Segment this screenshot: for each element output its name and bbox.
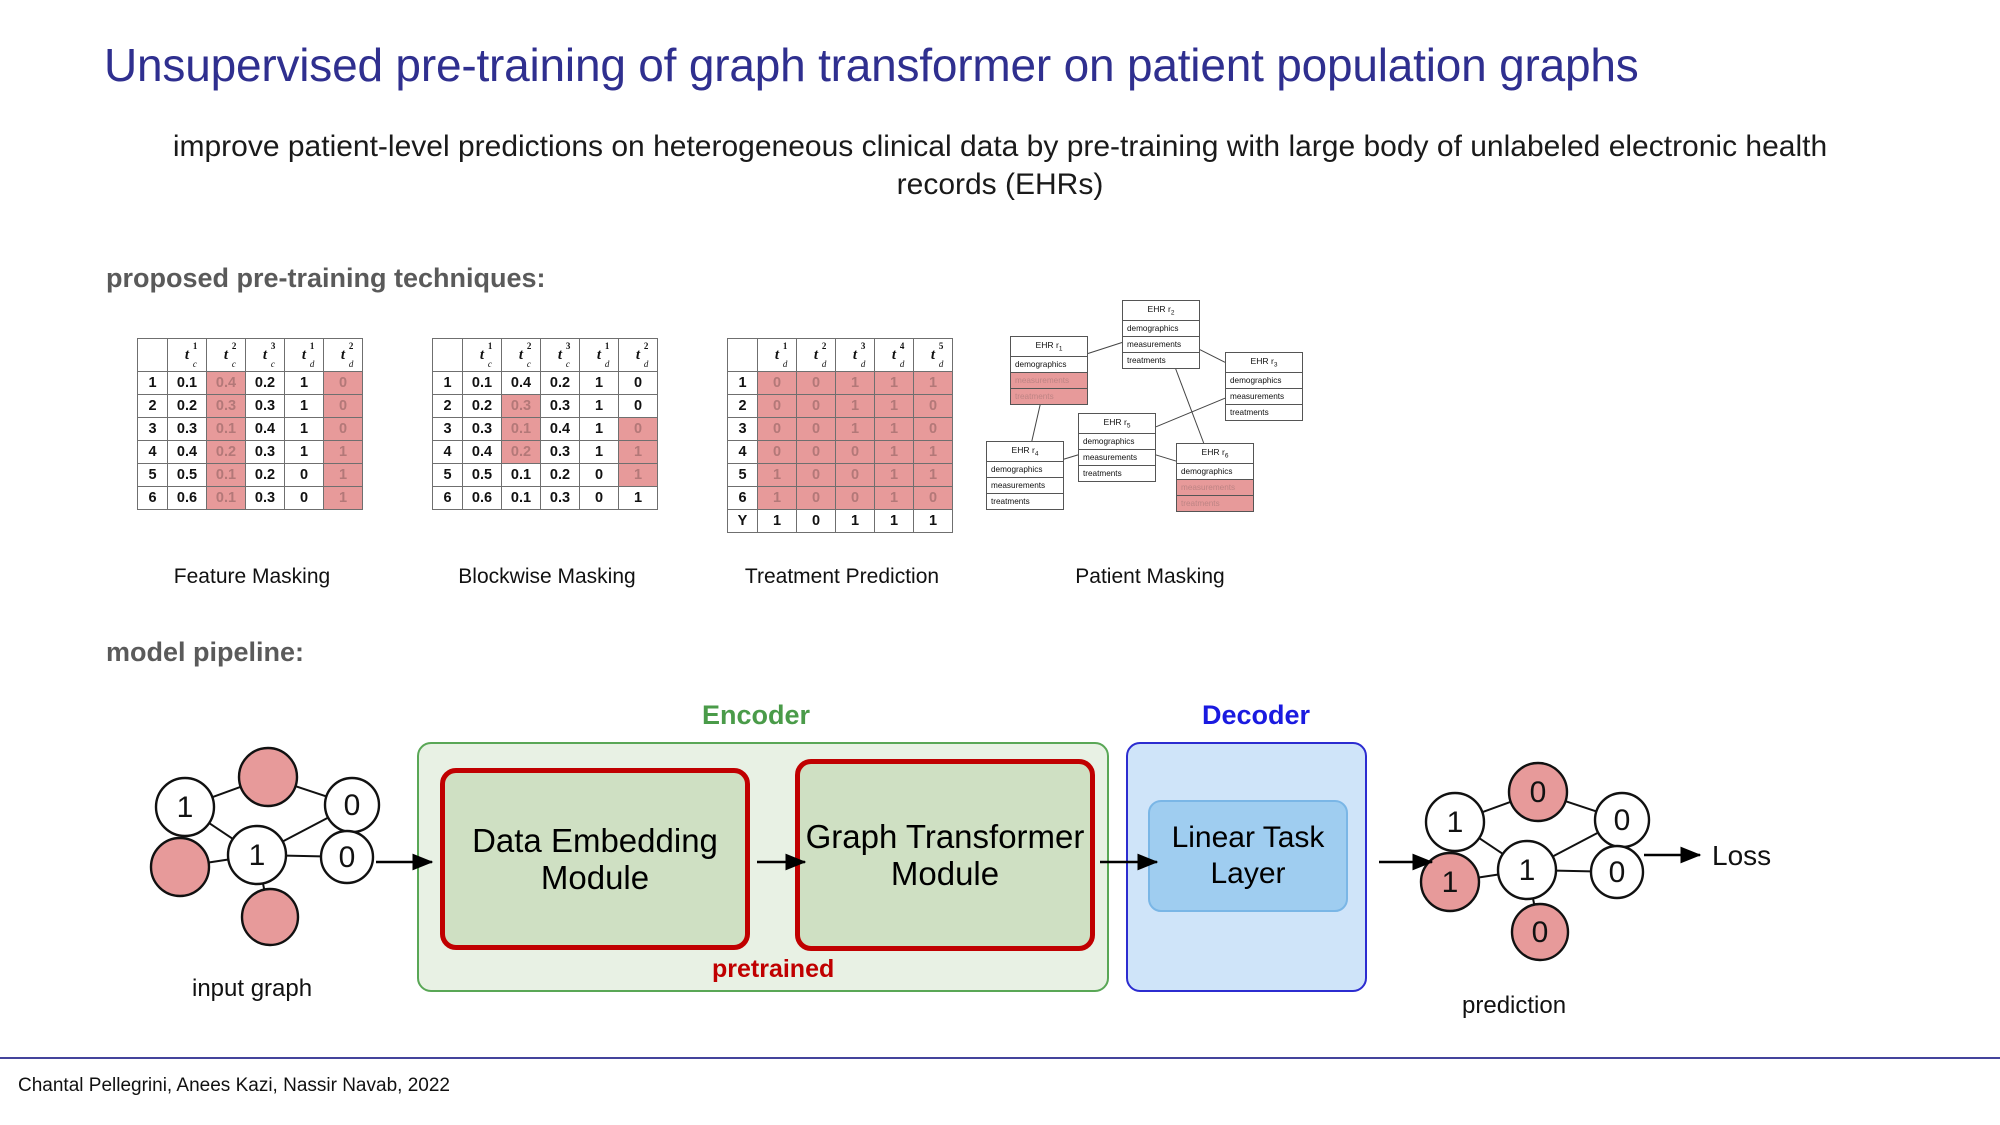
masked-cell: 1 xyxy=(914,464,953,487)
masked-cell: 0 xyxy=(836,464,875,487)
table-header-row: t1ct2ct3ct1dt2d xyxy=(433,339,658,372)
column-header-2: t2d xyxy=(797,339,836,372)
table-cell: 0.3 xyxy=(463,418,502,441)
row-index: 5 xyxy=(433,464,463,487)
masked-cell: 0.1 xyxy=(502,418,541,441)
masked-cell: 0 xyxy=(836,487,875,510)
table-cell: 0 xyxy=(797,510,836,533)
table-cell: 1 xyxy=(914,510,953,533)
module-linear-task-layer[interactable]: Linear Task Layer xyxy=(1148,800,1348,912)
table-cell: 1 xyxy=(580,418,619,441)
masked-cell: 1 xyxy=(875,418,914,441)
masked-cell: 1 xyxy=(875,441,914,464)
table-cell: 1 xyxy=(580,441,619,464)
masked-cell: 0 xyxy=(797,441,836,464)
input-graph-node-masked xyxy=(242,889,298,945)
patient-masking-diagram: EHR r1demographicsmeasurementstreatments… xyxy=(980,300,1320,560)
masked-cell: 0.3 xyxy=(207,395,246,418)
table-cell: 0.2 xyxy=(246,464,285,487)
input-graph-edge xyxy=(286,856,321,857)
ehr-row: measurements xyxy=(1226,389,1302,405)
ehr-row: treatments xyxy=(1226,405,1302,420)
masked-cell: 1 xyxy=(619,464,658,487)
table-caption-treatment-prediction: Treatment Prediction xyxy=(687,565,997,589)
masked-cell: 0 xyxy=(758,418,797,441)
table-row: 20.20.30.310 xyxy=(433,395,658,418)
table-cell: 1 xyxy=(285,418,324,441)
table-cell: 0.4 xyxy=(502,372,541,395)
table-row: 610010 xyxy=(728,487,953,510)
input-graph-node-label: 1 xyxy=(249,839,266,872)
table-cell: 1 xyxy=(619,487,658,510)
masked-cell: 0 xyxy=(619,418,658,441)
ehr-edge xyxy=(1200,350,1225,363)
input-graph-node-label: 1 xyxy=(177,791,194,824)
table-cell: 0.2 xyxy=(168,395,207,418)
ehr-row: demographics xyxy=(987,462,1063,478)
table-corner-cell xyxy=(433,339,463,372)
prediction-graph-node-label: 1 xyxy=(1519,854,1536,887)
table-cell: 1 xyxy=(580,372,619,395)
table-cell: 0.1 xyxy=(463,372,502,395)
table-row: 300110 xyxy=(728,418,953,441)
ehr-row: treatments xyxy=(1123,353,1199,368)
input-graph-edge xyxy=(212,787,240,797)
ehr-node-r4: EHR r4demographicsmeasurementstreatments xyxy=(986,441,1064,510)
table-row: 40.40.20.311 xyxy=(138,441,363,464)
decoder-label: Decoder xyxy=(1202,700,1310,731)
table-cell: 0.1 xyxy=(168,372,207,395)
row-index: 5 xyxy=(728,464,758,487)
table-row: 30.30.10.410 xyxy=(433,418,658,441)
masked-cell: 0 xyxy=(914,395,953,418)
ehr-row: demographics xyxy=(1011,357,1087,373)
column-header-4: t1d xyxy=(580,339,619,372)
table-row: 10.10.40.210 xyxy=(433,372,658,395)
column-header-2: t2c xyxy=(207,339,246,372)
masked-cell: 0.3 xyxy=(502,395,541,418)
row-index: 2 xyxy=(728,395,758,418)
input-graph-caption: input graph xyxy=(192,975,312,1003)
row-index: 6 xyxy=(728,487,758,510)
table-row: 60.60.10.301 xyxy=(433,487,658,510)
table-cell: 0.5 xyxy=(463,464,502,487)
row-index: 3 xyxy=(433,418,463,441)
ehr-node-title: EHR r5 xyxy=(1079,414,1155,434)
masked-cell: 0 xyxy=(914,418,953,441)
table-cell: 1 xyxy=(875,510,914,533)
prediction-graph-node-label: 0 xyxy=(1532,916,1549,949)
masked-cell: 0 xyxy=(797,464,836,487)
prediction-graph-edge xyxy=(1566,801,1597,811)
column-header-1: t1c xyxy=(463,339,502,372)
masked-cell: 0.1 xyxy=(207,418,246,441)
table-row: 50.50.10.201 xyxy=(138,464,363,487)
masked-cell: 0 xyxy=(836,441,875,464)
row-index: 3 xyxy=(138,418,168,441)
column-header-3: t3c xyxy=(541,339,580,372)
column-header-3: t3d xyxy=(836,339,875,372)
masked-cell: 0 xyxy=(324,418,363,441)
table-row: 400011 xyxy=(728,441,953,464)
ehr-node-r2: EHR r2demographicsmeasurementstreatments xyxy=(1122,300,1200,369)
table-caption-blockwise-masking: Blockwise Masking xyxy=(392,565,702,589)
table-cell: 1 xyxy=(580,395,619,418)
table-row: 20.20.30.310 xyxy=(138,395,363,418)
ehr-row: measurements xyxy=(1079,450,1155,466)
table-cell: 0.6 xyxy=(168,487,207,510)
masked-cell: 1 xyxy=(758,464,797,487)
row-index: 6 xyxy=(433,487,463,510)
masked-cell: 0 xyxy=(797,372,836,395)
ehr-edge xyxy=(1172,360,1203,443)
table-cell: 0.4 xyxy=(463,441,502,464)
table-cell: 1 xyxy=(758,510,797,533)
row-index: 1 xyxy=(728,372,758,395)
row-index: 4 xyxy=(728,441,758,464)
footer-divider xyxy=(0,1057,2000,1059)
column-header-5: t2d xyxy=(619,339,658,372)
table-corner-cell xyxy=(138,339,168,372)
input-graph-node-masked xyxy=(239,748,297,806)
column-header-4: t1d xyxy=(285,339,324,372)
table-cell: 0.1 xyxy=(502,464,541,487)
row-index: 1 xyxy=(433,372,463,395)
ehr-row-masked: treatments xyxy=(1011,389,1087,404)
masked-cell: 1 xyxy=(836,418,875,441)
ehr-edge xyxy=(1156,398,1225,427)
row-index: 1 xyxy=(138,372,168,395)
column-header-5: t5d xyxy=(914,339,953,372)
masked-cell: 0 xyxy=(758,372,797,395)
table-row: 200110 xyxy=(728,395,953,418)
column-header-5: t2d xyxy=(324,339,363,372)
table-cell: 0.2 xyxy=(541,372,580,395)
masked-cell: 1 xyxy=(875,464,914,487)
ehr-row-masked: measurements xyxy=(1177,480,1253,496)
table-cell: 1 xyxy=(285,395,324,418)
masked-cell: 1 xyxy=(324,441,363,464)
column-header-4: t4d xyxy=(875,339,914,372)
table-row: 100111 xyxy=(728,372,953,395)
table-cell: 0 xyxy=(580,464,619,487)
prediction-graph-node-label: 1 xyxy=(1447,806,1464,839)
ehr-row: demographics xyxy=(1177,464,1253,480)
input-graph-edge xyxy=(209,823,233,839)
masked-cell: 0.1 xyxy=(207,487,246,510)
row-index: 4 xyxy=(138,441,168,464)
masked-cell: 1 xyxy=(875,372,914,395)
masking-table-blockwise-masking: t1ct2ct3ct1dt2d10.10.40.21020.20.30.3103… xyxy=(432,338,658,510)
table-cell: 0.3 xyxy=(541,441,580,464)
column-header-1: t1d xyxy=(758,339,797,372)
input-graph-node-label: 0 xyxy=(344,789,361,822)
ehr-edge xyxy=(1064,455,1078,459)
ehr-row: treatments xyxy=(987,494,1063,509)
table-cell: 0 xyxy=(580,487,619,510)
page-subtitle: improve patient-level predictions on het… xyxy=(150,128,1850,205)
masked-cell: 0 xyxy=(797,395,836,418)
masked-cell: 0 xyxy=(758,441,797,464)
pretrained-label: pretrained xyxy=(712,955,834,984)
prediction-graph-node-label: 1 xyxy=(1442,866,1459,899)
table-cell: 0.3 xyxy=(168,418,207,441)
input-graph-edge xyxy=(296,786,327,796)
page-title: Unsupervised pre-training of graph trans… xyxy=(104,38,1904,92)
ehr-row-masked: treatments xyxy=(1177,496,1253,511)
table-cell: 0.4 xyxy=(541,418,580,441)
row-index: 5 xyxy=(138,464,168,487)
masked-cell: 0.2 xyxy=(502,441,541,464)
input-graph-edge xyxy=(283,818,328,842)
ehr-node-r5: EHR r5demographicsmeasurementstreatments xyxy=(1078,413,1156,482)
table-row: 510011 xyxy=(728,464,953,487)
masking-table-feature-masking: t1ct2ct3ct1dt2d10.10.40.21020.20.30.3103… xyxy=(137,338,363,510)
table-cell: 1 xyxy=(285,372,324,395)
row-index: Y xyxy=(728,510,758,533)
ehr-node-title: EHR r4 xyxy=(987,442,1063,462)
masked-cell: 1 xyxy=(836,395,875,418)
masked-cell: 1 xyxy=(758,487,797,510)
table-header-row: t1dt2dt3dt4dt5d xyxy=(728,339,953,372)
masked-cell: 0 xyxy=(758,395,797,418)
section-heading-pipeline: model pipeline: xyxy=(106,637,304,668)
table-cell: 0 xyxy=(285,464,324,487)
masked-cell: 0.4 xyxy=(207,372,246,395)
ehr-node-title: EHR r3 xyxy=(1226,353,1302,373)
column-header-3: t3c xyxy=(246,339,285,372)
masked-cell: 0 xyxy=(797,487,836,510)
ehr-row-masked: measurements xyxy=(1011,373,1087,389)
table-row: 10.10.40.210 xyxy=(138,372,363,395)
prediction-graph-edge xyxy=(1479,874,1499,877)
masking-table-treatment-prediction: t1dt2dt3dt4dt5d1001112001103001104000115… xyxy=(727,338,953,533)
column-header-1: t1c xyxy=(168,339,207,372)
row-index: 2 xyxy=(433,395,463,418)
input-graph-node-masked xyxy=(151,838,209,896)
masked-cell: 1 xyxy=(324,487,363,510)
ehr-row: demographics xyxy=(1079,434,1155,450)
module-graph-transformer[interactable]: Graph Transformer Module xyxy=(795,759,1095,951)
table-cell: 1 xyxy=(285,441,324,464)
table-row: 30.30.10.410 xyxy=(138,418,363,441)
masked-cell: 0 xyxy=(797,418,836,441)
table-row: 40.40.20.311 xyxy=(433,441,658,464)
table-cell: 0.3 xyxy=(541,395,580,418)
table-caption-feature-masking: Feature Masking xyxy=(97,565,407,589)
ehr-edge xyxy=(1156,455,1176,461)
row-index: 2 xyxy=(138,395,168,418)
ehr-row: demographics xyxy=(1226,373,1302,389)
table-cell: 0.2 xyxy=(541,464,580,487)
input-graph: 1010 xyxy=(140,745,400,960)
masked-cell: 1 xyxy=(836,372,875,395)
loss-label: Loss xyxy=(1712,840,1771,872)
masked-cell: 1 xyxy=(914,441,953,464)
prediction-graph-node-label: 0 xyxy=(1609,856,1626,889)
masked-cell: 0 xyxy=(324,372,363,395)
table-cell: 0.1 xyxy=(502,487,541,510)
table-cell: 1 xyxy=(836,510,875,533)
slide-root: Unsupervised pre-training of graph trans… xyxy=(0,0,2000,1125)
prediction-graph-edge xyxy=(1482,802,1510,812)
masked-cell: 0 xyxy=(914,487,953,510)
table-corner-cell xyxy=(728,339,758,372)
table-cell: 0.6 xyxy=(463,487,502,510)
table-cell: 0.4 xyxy=(168,441,207,464)
table-cell: 0.3 xyxy=(246,487,285,510)
table-row: Y10111 xyxy=(728,510,953,533)
table-cell: 0.3 xyxy=(246,395,285,418)
module-data-embedding[interactable]: Data Embedding Module xyxy=(440,768,750,950)
ehr-row: demographics xyxy=(1123,321,1199,337)
masked-cell: 1 xyxy=(875,487,914,510)
row-index: 6 xyxy=(138,487,168,510)
row-index: 4 xyxy=(433,441,463,464)
ehr-node-title: EHR r2 xyxy=(1123,301,1199,321)
masked-cell: 0.1 xyxy=(207,464,246,487)
ehr-row: measurements xyxy=(1123,337,1199,353)
table-cell: 0 xyxy=(285,487,324,510)
ehr-node-title: EHR r1 xyxy=(1011,337,1087,357)
prediction-graph-node-label: 0 xyxy=(1614,804,1631,837)
table-cell: 0.2 xyxy=(246,372,285,395)
masked-cell: 1 xyxy=(914,372,953,395)
prediction-graph: 1001010 xyxy=(1410,760,1670,975)
ehr-row: measurements xyxy=(987,478,1063,494)
masked-cell: 1 xyxy=(324,464,363,487)
masked-cell: 0.2 xyxy=(207,441,246,464)
ehr-node-r3: EHR r3demographicsmeasurementstreatments xyxy=(1225,352,1303,421)
table-header-row: t1ct2ct3ct1dt2d xyxy=(138,339,363,372)
masked-cell: 0 xyxy=(324,395,363,418)
table-row: 50.50.10.201 xyxy=(433,464,658,487)
masked-cell: 1 xyxy=(875,395,914,418)
section-heading-pretraining: proposed pre-training techniques: xyxy=(106,263,546,294)
masked-cell: 1 xyxy=(619,441,658,464)
table-caption-patient-masking: Patient Masking xyxy=(1030,565,1270,589)
table-cell: 0.3 xyxy=(246,441,285,464)
table-cell: 0.3 xyxy=(541,487,580,510)
input-graph-node-label: 0 xyxy=(339,841,356,874)
column-header-2: t2c xyxy=(502,339,541,372)
table-cell: 0.5 xyxy=(168,464,207,487)
prediction-graph-caption: prediction xyxy=(1462,992,1566,1020)
ehr-row: treatments xyxy=(1079,466,1155,481)
prediction-graph-edge xyxy=(1556,871,1591,872)
ehr-node-r1: EHR r1demographicsmeasurementstreatments xyxy=(1010,336,1088,405)
encoder-label: Encoder xyxy=(702,700,810,731)
ehr-node-r6: EHR r6demographicsmeasurementstreatments xyxy=(1176,443,1254,512)
table-cell: 0.4 xyxy=(246,418,285,441)
ehr-node-title: EHR r6 xyxy=(1177,444,1253,464)
table-row: 60.60.10.301 xyxy=(138,487,363,510)
prediction-graph-node-label: 0 xyxy=(1530,776,1547,809)
footer-credit: Chantal Pellegrini, Anees Kazi, Nassir N… xyxy=(18,1075,450,1097)
prediction-graph-edge xyxy=(1553,833,1598,857)
row-index: 3 xyxy=(728,418,758,441)
table-cell: 0 xyxy=(619,372,658,395)
ehr-edge xyxy=(1088,343,1122,354)
table-cell: 0 xyxy=(619,395,658,418)
table-cell: 0.2 xyxy=(463,395,502,418)
input-graph-edge xyxy=(209,859,229,862)
prediction-graph-edge xyxy=(1479,838,1503,854)
